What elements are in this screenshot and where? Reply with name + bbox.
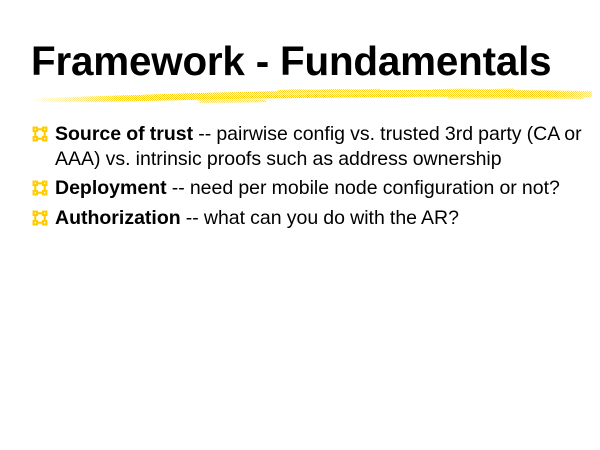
list-item-rest: -- need per mobile node configuration or… bbox=[167, 177, 560, 199]
list-item-lead: Deployment bbox=[55, 177, 167, 199]
list-item: Source of trust -- pairwise config vs. t… bbox=[0, 122, 600, 171]
list-item: Authorization -- what can you do with th… bbox=[0, 206, 600, 231]
list-item-text: Source of trust -- pairwise config vs. t… bbox=[55, 122, 586, 171]
list-item-text: Authorization -- what can you do with th… bbox=[55, 206, 586, 231]
place-of-interest-icon bbox=[32, 210, 50, 228]
brushstroke-underline-icon bbox=[28, 85, 594, 107]
place-of-interest-icon bbox=[32, 126, 50, 144]
slide-canvas: Framework - Fundamentals bbox=[0, 0, 600, 450]
bullet-list: Source of trust -- pairwise config vs. t… bbox=[0, 122, 600, 235]
list-item-lead: Authorization bbox=[55, 207, 181, 229]
list-item-rest: -- what can you do with the AR? bbox=[181, 207, 459, 229]
page-title: Framework - Fundamentals bbox=[31, 38, 551, 84]
place-of-interest-icon bbox=[32, 180, 50, 198]
list-item: Deployment -- need per mobile node confi… bbox=[0, 176, 600, 201]
title-block: Framework - Fundamentals bbox=[0, 38, 600, 108]
list-item-text: Deployment -- need per mobile node confi… bbox=[55, 176, 586, 201]
list-item-lead: Source of trust bbox=[55, 123, 193, 145]
